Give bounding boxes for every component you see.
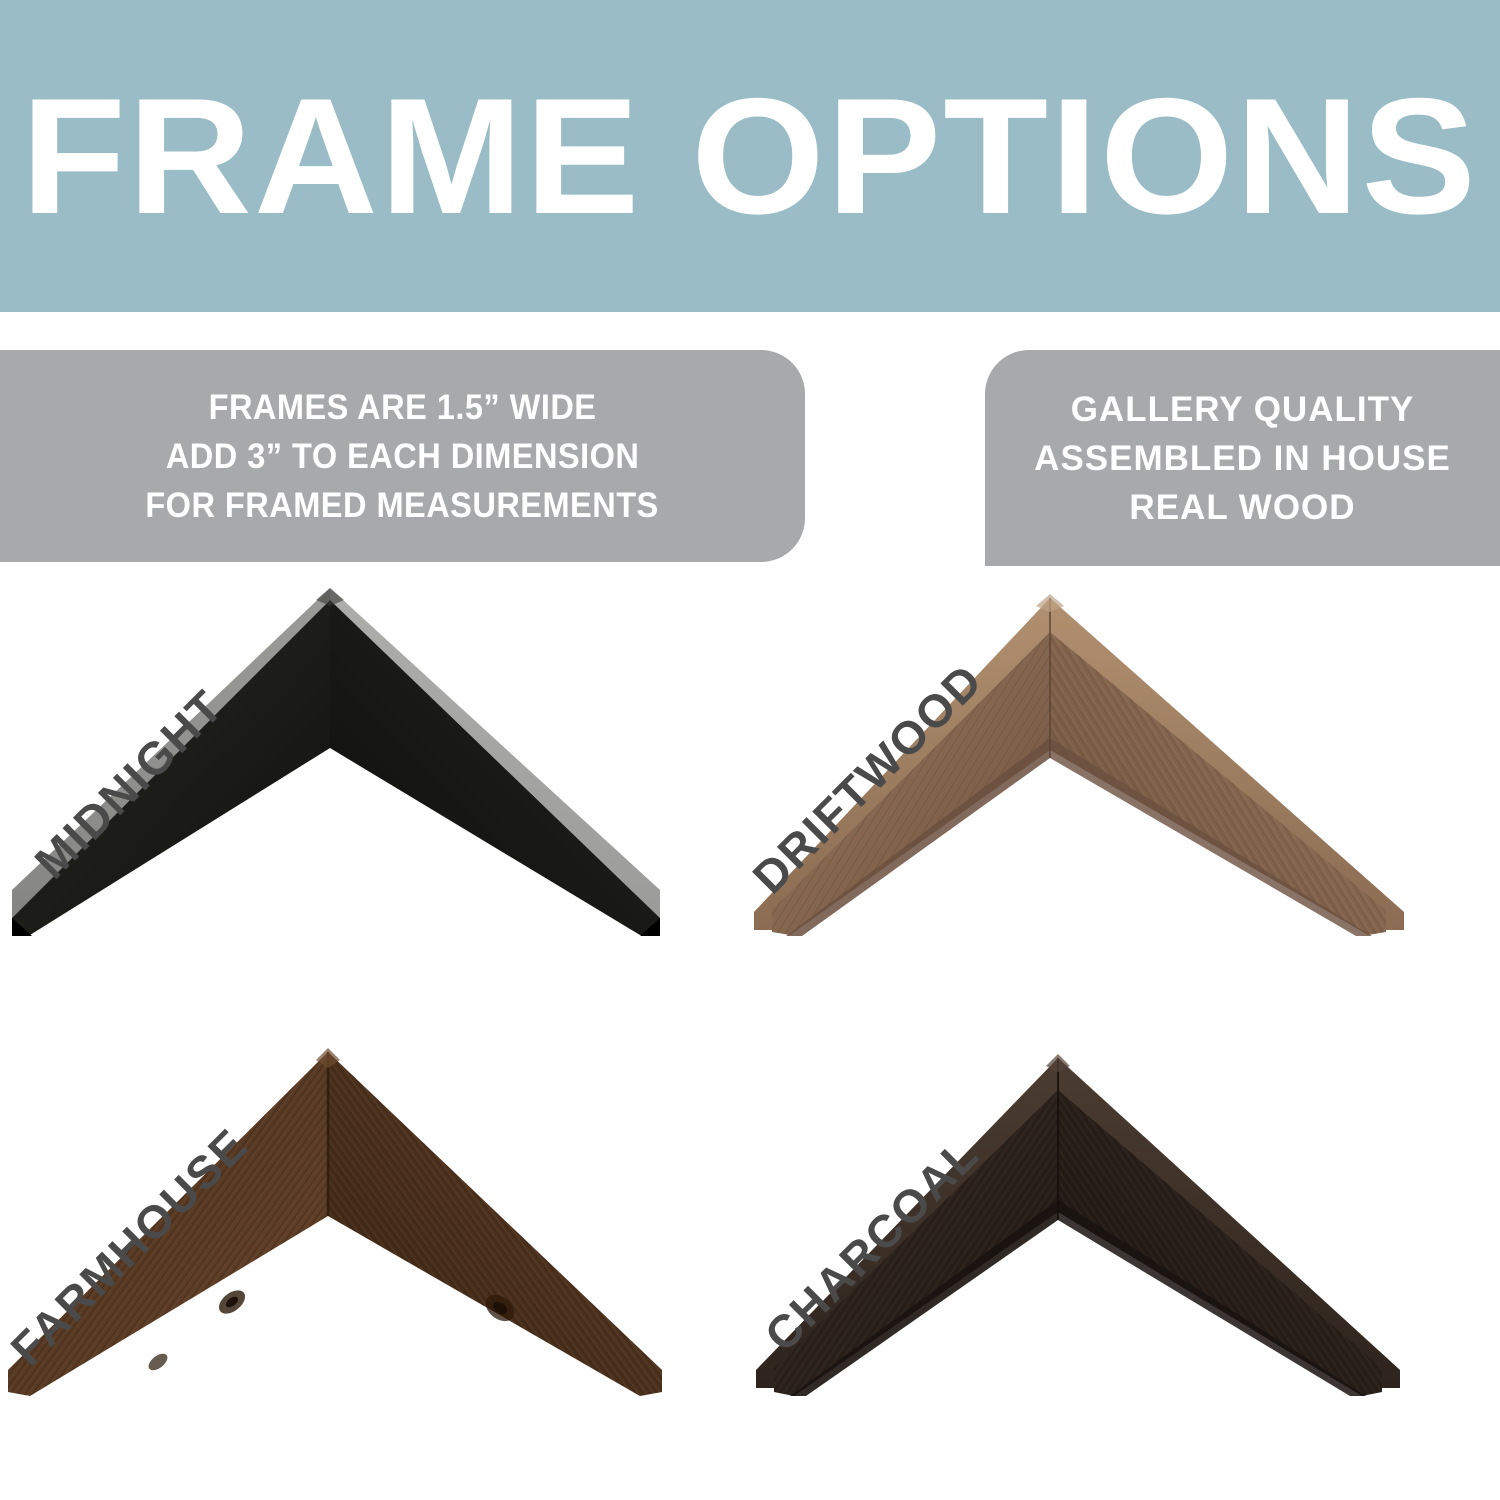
info-line: GALLERY QUALITY [1071,385,1415,434]
frame-options-grid: MIDNIGHT [0,580,1500,1420]
frame-swatch-driftwood[interactable]: DRIFTWOOD [750,580,1500,1000]
frame-swatch-farmhouse[interactable]: FARMHOUSE [0,1040,750,1460]
info-line: ASSEMBLED IN HOUSE [1034,434,1451,483]
info-line: REAL WOOD [1129,483,1355,532]
info-line: FOR FRAMED MEASUREMENTS [146,481,659,530]
frame-swatch-midnight[interactable]: MIDNIGHT [0,580,750,1000]
frame-swatch-charcoal[interactable]: CHARCOAL [750,1040,1500,1460]
info-line: ADD 3” TO EACH DIMENSION [166,432,640,481]
page-title: FRAME OPTIONS [21,74,1478,239]
header-banner: FRAME OPTIONS [0,0,1500,312]
info-line: FRAMES ARE 1.5” WIDE [209,383,597,432]
info-box-quality: GALLERY QUALITY ASSEMBLED IN HOUSE REAL … [985,350,1500,566]
info-box-measurements: FRAMES ARE 1.5” WIDE ADD 3” TO EACH DIME… [0,350,805,562]
